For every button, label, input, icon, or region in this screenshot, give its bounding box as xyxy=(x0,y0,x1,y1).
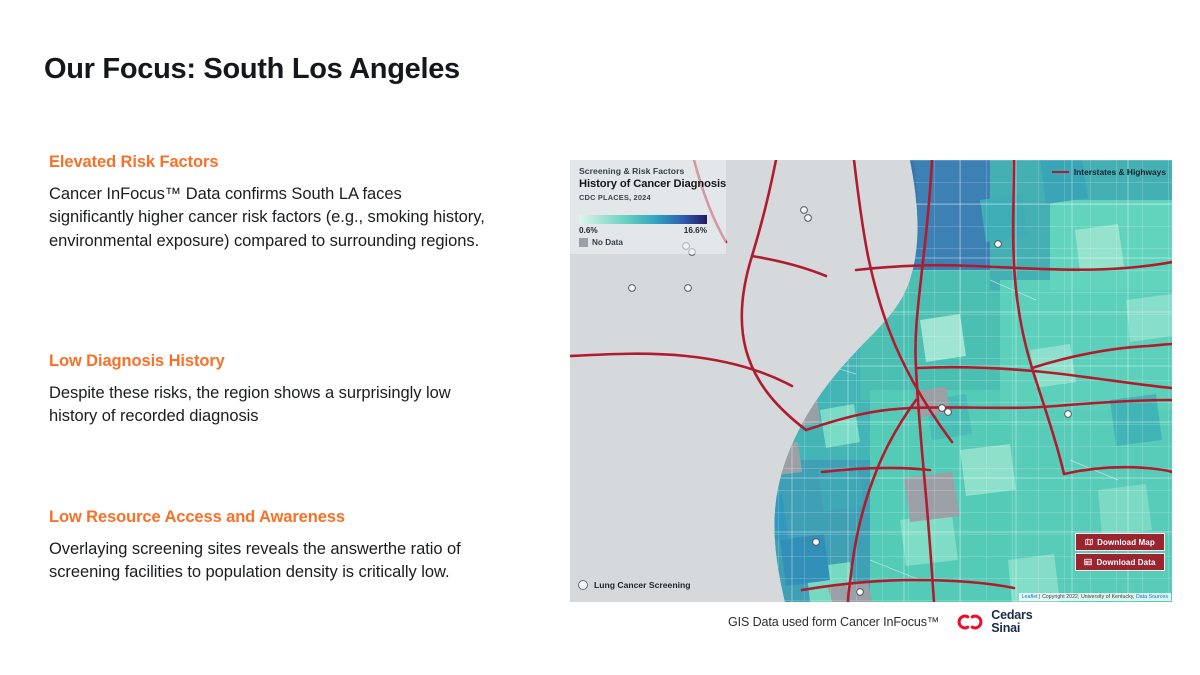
section-low-diagnosis-history: Low Diagnosis History Despite these risk… xyxy=(49,352,489,429)
highway-line-swatch-icon xyxy=(1052,171,1069,174)
data-sources-link[interactable]: Data Sources xyxy=(1136,594,1168,600)
cedars-sinai-wordmark: Cedars Sinai xyxy=(991,609,1032,635)
screening-legend[interactable]: Lung Cancer Screening xyxy=(578,580,690,590)
screening-legend-label: Lung Cancer Screening xyxy=(594,580,690,590)
section-body: Despite these risks, the region shows a … xyxy=(49,382,489,429)
page-title: Our Focus: South Los Angeles xyxy=(44,53,460,86)
attribution-copyright: Copyright 2022, University of Kentucky, xyxy=(1042,594,1134,600)
section-body: Overlaying screening sites reveals the a… xyxy=(49,538,489,585)
map-caption-row: GIS Data used form Cancer InFocus™ Cedar… xyxy=(728,609,1032,635)
logo-line-1: Cedars xyxy=(991,609,1032,622)
section-body: Cancer InFocus™ Data confirms South LA f… xyxy=(49,183,489,253)
download-data-label: Download Data xyxy=(1096,558,1155,567)
table-icon xyxy=(1084,558,1092,566)
section-heading: Low Diagnosis History xyxy=(49,352,489,371)
cedars-sinai-logo: Cedars Sinai xyxy=(955,609,1032,635)
map-icon xyxy=(1085,538,1093,546)
cedars-sinai-mark-icon xyxy=(955,611,985,633)
logo-line-2: Sinai xyxy=(991,622,1032,635)
download-map-label: Download Map xyxy=(1097,538,1155,547)
section-heading: Low Resource Access and Awareness xyxy=(49,508,489,527)
choropleth-map[interactable]: Screening & Risk Factors History of Canc… xyxy=(570,160,1172,602)
highway-legend: Interstates & Highways xyxy=(1052,167,1166,177)
leaflet-link[interactable]: Leaflet xyxy=(1022,594,1038,600)
map-attribution[interactable]: Leaflet | Copyright 2022, University of … xyxy=(1019,593,1171,601)
download-data-button[interactable]: Download Data xyxy=(1075,553,1165,571)
download-map-button[interactable]: Download Map xyxy=(1075,533,1165,551)
section-elevated-risk-factors: Elevated Risk Factors Cancer InFocus™ Da… xyxy=(49,153,489,253)
section-heading: Elevated Risk Factors xyxy=(49,153,489,172)
screening-marker-icon xyxy=(578,580,588,590)
map-caption: GIS Data used form Cancer InFocus™ xyxy=(728,615,939,629)
download-button-group: Download Map Download Data xyxy=(1075,533,1165,571)
section-low-resource-access: Low Resource Access and Awareness Overla… xyxy=(49,508,489,585)
highway-legend-label: Interstates & Highways xyxy=(1074,167,1166,177)
